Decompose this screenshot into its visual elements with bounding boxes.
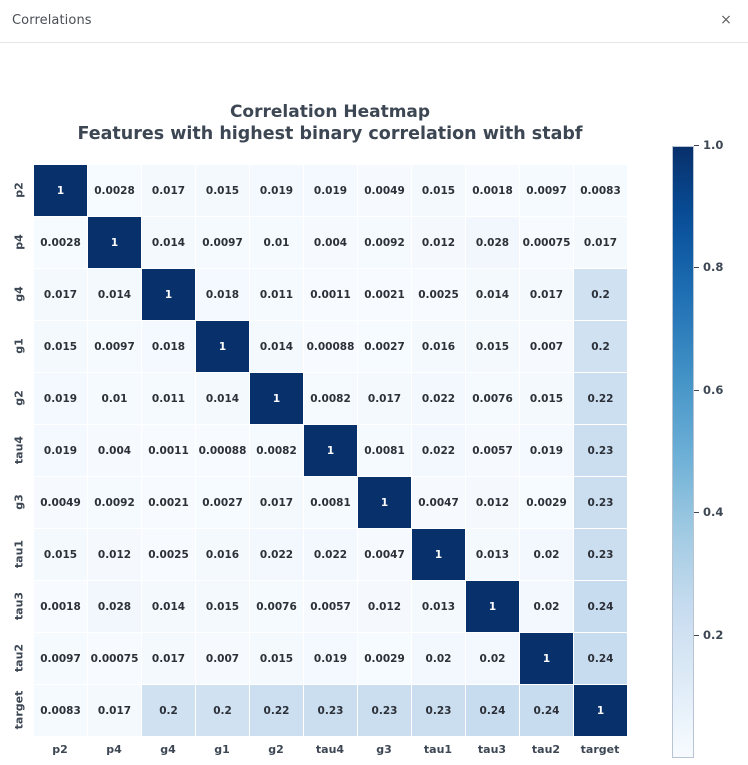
heatmap-cell: 0.0018: [34, 581, 88, 633]
chart-title: Correlation Heatmap Features with highes…: [0, 101, 660, 145]
heatmap-cell: 0.0049: [358, 165, 412, 217]
heatmap-cell: 0.022: [304, 529, 358, 581]
heatmap-cell: 1: [142, 269, 196, 321]
y-tick-label-text: g3: [13, 494, 26, 510]
heatmap-row: 0.00830.0170.20.20.220.230.230.230.240.2…: [34, 685, 628, 737]
heatmap-cell: 0.013: [412, 581, 466, 633]
y-tick-label-text: g2: [13, 390, 26, 406]
y-tick-label: g4: [6, 268, 32, 320]
heatmap-cell: 0.0029: [358, 633, 412, 685]
y-axis-tick-labels: p2p4g4g1g2tau4g3tau1tau3tau2target: [6, 164, 32, 736]
heatmap-row: 10.00280.0170.0150.0190.0190.00490.0150.…: [34, 165, 628, 217]
y-tick-label: tau3: [6, 580, 32, 632]
heatmap-cell: 0.014: [196, 373, 250, 425]
heatmap-cell: 0.015: [196, 165, 250, 217]
heatmap-cell: 0.004: [304, 217, 358, 269]
y-tick-label: target: [6, 684, 32, 736]
heatmap-cell: 0.0047: [412, 477, 466, 529]
heatmap-cell: 0.0011: [304, 269, 358, 321]
heatmap-cell: 0.00088: [196, 425, 250, 477]
heatmap-cell: 0.0025: [412, 269, 466, 321]
heatmap-cell: 0.016: [196, 529, 250, 581]
heatmap-cell: 1: [466, 581, 520, 633]
heatmap-cell: 0.014: [466, 269, 520, 321]
heatmap-cell: 0.0011: [142, 425, 196, 477]
x-tick-label: g4: [141, 743, 195, 756]
heatmap-cell: 0.016: [412, 321, 466, 373]
heatmap-cell: 0.018: [142, 321, 196, 373]
heatmap-cell: 0.019: [34, 425, 88, 477]
heatmap-row: 0.0150.0120.00250.0160.0220.0220.004710.…: [34, 529, 628, 581]
colorbar: [672, 146, 694, 758]
heatmap-cell: 0.014: [142, 581, 196, 633]
heatmap-row: 0.0150.00970.01810.0140.000880.00270.016…: [34, 321, 628, 373]
heatmap-cell: 0.017: [34, 269, 88, 321]
heatmap-cell: 0.0018: [466, 165, 520, 217]
colorbar-tick: 0.2: [694, 628, 723, 642]
heatmap-cell: 0.014: [142, 217, 196, 269]
heatmap-cell: 0.2: [196, 685, 250, 737]
heatmap-cell: 0.0081: [358, 425, 412, 477]
heatmap-cell: 0.00075: [520, 217, 574, 269]
heatmap-cell: 0.018: [196, 269, 250, 321]
y-tick-label-text: tau2: [13, 644, 26, 672]
x-tick-label: g3: [357, 743, 411, 756]
heatmap-cell: 1: [304, 425, 358, 477]
heatmap-cell: 0.011: [142, 373, 196, 425]
chart-title-line2: Features with highest binary correlation…: [0, 123, 660, 145]
y-tick-label-text: tau1: [13, 540, 26, 568]
heatmap-cell: 0.0021: [142, 477, 196, 529]
y-tick-label-text: tau4: [13, 436, 26, 464]
heatmap-cell: 0.0097: [196, 217, 250, 269]
heatmap-cell: 0.011: [250, 269, 304, 321]
heatmap-cell: 0.23: [304, 685, 358, 737]
close-icon[interactable]: ×: [716, 10, 736, 30]
y-tick-label: p2: [6, 164, 32, 216]
heatmap-cell: 0.01: [250, 217, 304, 269]
heatmap-cell: 0.017: [142, 165, 196, 217]
y-tick-label: p4: [6, 216, 32, 268]
heatmap-cell: 0.015: [466, 321, 520, 373]
colorbar-tick-text: 0.2: [703, 628, 723, 642]
heatmap-cell: 0.0049: [34, 477, 88, 529]
heatmap-cell: 0.01: [88, 373, 142, 425]
heatmap-cell: 0.23: [574, 425, 628, 477]
colorbar-tick: 0.8: [694, 260, 723, 274]
heatmap-cell: 0.017: [142, 633, 196, 685]
y-tick-label-text: target: [13, 691, 26, 730]
heatmap-cell: 0.0057: [304, 581, 358, 633]
heatmap-cell: 0.017: [574, 217, 628, 269]
heatmap-cell: 0.2: [574, 321, 628, 373]
x-tick-label: target: [573, 743, 627, 756]
x-tick-label: tau1: [411, 743, 465, 756]
heatmap-cell: 0.02: [520, 581, 574, 633]
heatmap-cell: 1: [574, 685, 628, 737]
y-tick-label: g1: [6, 320, 32, 372]
heatmap-cell: 0.24: [520, 685, 574, 737]
heatmap-cell: 0.013: [466, 529, 520, 581]
heatmap-cell: 0.012: [412, 217, 466, 269]
heatmap-cell: 0.23: [574, 529, 628, 581]
heatmap-row: 0.00180.0280.0140.0150.00760.00570.0120.…: [34, 581, 628, 633]
heatmap-cell: 0.22: [250, 685, 304, 737]
heatmap-cell: 0.007: [196, 633, 250, 685]
heatmap-cell: 0.015: [34, 529, 88, 581]
heatmap-cell: 0.012: [88, 529, 142, 581]
y-tick-label: g2: [6, 372, 32, 424]
heatmap-cell: 1: [196, 321, 250, 373]
heatmap-cell: 0.0082: [250, 425, 304, 477]
colorbar-tick: 0.4: [694, 505, 723, 519]
heatmap-cell: 0.012: [466, 477, 520, 529]
heatmap-cell: 0.23: [358, 685, 412, 737]
heatmap-cell: 0.017: [250, 477, 304, 529]
x-tick-label: tau3: [465, 743, 519, 756]
x-tick-label: p4: [87, 743, 141, 756]
heatmap-cell: 0.02: [520, 529, 574, 581]
heatmap-cell: 0.022: [412, 373, 466, 425]
heatmap-cell: 0.24: [574, 633, 628, 685]
heatmap-cell: 0.0027: [196, 477, 250, 529]
heatmap-cell: 0.012: [358, 581, 412, 633]
modal-header: Correlations ×: [0, 0, 748, 43]
heatmap-cell: 0.00088: [304, 321, 358, 373]
heatmap-cell: 0.24: [466, 685, 520, 737]
heatmap-cell: 1: [88, 217, 142, 269]
heatmap-cell: 0.23: [412, 685, 466, 737]
y-tick-label-text: tau3: [13, 592, 26, 620]
colorbar-tick-text: 1.0: [703, 138, 723, 152]
colorbar-tick: 1.0: [694, 138, 723, 152]
heatmap-cell: 0.0076: [466, 373, 520, 425]
heatmap-cell: 0.0083: [574, 165, 628, 217]
x-tick-label: g2: [249, 743, 303, 756]
heatmap-cell: 0.019: [520, 425, 574, 477]
heatmap-cell: 0.014: [88, 269, 142, 321]
heatmap-cell: 0.028: [466, 217, 520, 269]
heatmap-cell: 0.0028: [34, 217, 88, 269]
heatmap-cell: 0.0097: [88, 321, 142, 373]
heatmap-grid: 10.00280.0170.0150.0190.0190.00490.0150.…: [33, 164, 628, 737]
x-tick-label: g1: [195, 743, 249, 756]
heatmap-row: 0.0190.010.0110.01410.00820.0170.0220.00…: [34, 373, 628, 425]
heatmap-cell: 0.019: [250, 165, 304, 217]
x-axis-tick-labels: p2p4g4g1g2tau4g3tau1tau3tau2target: [33, 743, 627, 756]
heatmap-cell: 0.015: [520, 373, 574, 425]
heatmap-cell: 0.24: [574, 581, 628, 633]
heatmap-cell: 0.0028: [88, 165, 142, 217]
heatmap-cell: 1: [34, 165, 88, 217]
heatmap-row: 0.0170.01410.0180.0110.00110.00210.00250…: [34, 269, 628, 321]
heatmap-cell: 0.0047: [358, 529, 412, 581]
heatmap-cell: 0.028: [88, 581, 142, 633]
heatmap-cell: 0.2: [574, 269, 628, 321]
colorbar-tick-text: 0.8: [703, 260, 723, 274]
heatmap-cell: 0.017: [520, 269, 574, 321]
heatmap-row: 0.0190.0040.00110.000880.008210.00810.02…: [34, 425, 628, 477]
heatmap-row: 0.002810.0140.00970.010.0040.00920.0120.…: [34, 217, 628, 269]
colorbar-tick-text: 0.6: [703, 383, 723, 397]
heatmap-cell: 0.014: [250, 321, 304, 373]
x-tick-label: p2: [33, 743, 87, 756]
y-tick-label-text: g4: [13, 286, 26, 302]
heatmap-cell: 0.022: [412, 425, 466, 477]
heatmap-cell: 0.019: [304, 633, 358, 685]
heatmap-cell: 0.0057: [466, 425, 520, 477]
heatmap-cell: 0.015: [196, 581, 250, 633]
heatmap-cell: 0.0082: [304, 373, 358, 425]
colorbar-tick: 0.6: [694, 383, 723, 397]
heatmap-cell: 0.0021: [358, 269, 412, 321]
y-tick-label: tau4: [6, 424, 32, 476]
heatmap-cell: 0.0076: [250, 581, 304, 633]
heatmap-cell: 0.004: [88, 425, 142, 477]
heatmap-cell: 0.019: [34, 373, 88, 425]
heatmap-cell: 0.015: [34, 321, 88, 373]
heatmap-cell: 0.0029: [520, 477, 574, 529]
colorbar-tick-labels: 1.00.80.60.40.2: [694, 146, 744, 758]
heatmap-cell: 0.017: [358, 373, 412, 425]
correlation-heatmap-figure: Correlation Heatmap Features with highes…: [0, 43, 748, 765]
heatmap-cell: 0.02: [466, 633, 520, 685]
heatmap-cell: 0.007: [520, 321, 574, 373]
heatmap-cell: 0.02: [412, 633, 466, 685]
heatmap-cell: 0.2: [142, 685, 196, 737]
heatmap-cell: 0.0025: [142, 529, 196, 581]
heatmap-cell: 1: [412, 529, 466, 581]
chart-title-line1: Correlation Heatmap: [230, 102, 430, 122]
heatmap-cell: 0.015: [250, 633, 304, 685]
colorbar-tick-text: 0.4: [703, 505, 723, 519]
heatmap-cell: 0.017: [88, 685, 142, 737]
heatmap-cell: 0.0092: [88, 477, 142, 529]
y-tick-label: tau2: [6, 632, 32, 684]
heatmap-cell: 0.022: [250, 529, 304, 581]
y-tick-label-text: p4: [13, 234, 26, 250]
heatmap-cell: 0.0097: [520, 165, 574, 217]
heatmap-row: 0.00970.000750.0170.0070.0150.0190.00290…: [34, 633, 628, 685]
heatmap-cell: 0.019: [304, 165, 358, 217]
x-tick-label: tau2: [519, 743, 573, 756]
y-tick-label-text: g1: [13, 338, 26, 354]
heatmap-cell: 0.0097: [34, 633, 88, 685]
heatmap-cell: 1: [250, 373, 304, 425]
heatmap-cell: 0.0027: [358, 321, 412, 373]
x-tick-label: tau4: [303, 743, 357, 756]
heatmap-row: 0.00490.00920.00210.00270.0170.008110.00…: [34, 477, 628, 529]
y-tick-label: tau1: [6, 528, 32, 580]
heatmap-cell: 0.0083: [34, 685, 88, 737]
heatmap-cell: 1: [520, 633, 574, 685]
y-tick-label: g3: [6, 476, 32, 528]
heatmap-cell: 0.23: [574, 477, 628, 529]
heatmap-cell: 0.00075: [88, 633, 142, 685]
y-tick-label-text: p2: [13, 182, 26, 198]
heatmap-cell: 0.015: [412, 165, 466, 217]
heatmap-cell: 0.0092: [358, 217, 412, 269]
heatmap-cell: 0.22: [574, 373, 628, 425]
page-title: Correlations: [12, 13, 92, 28]
heatmap-cell: 1: [358, 477, 412, 529]
heatmap-cell: 0.0081: [304, 477, 358, 529]
